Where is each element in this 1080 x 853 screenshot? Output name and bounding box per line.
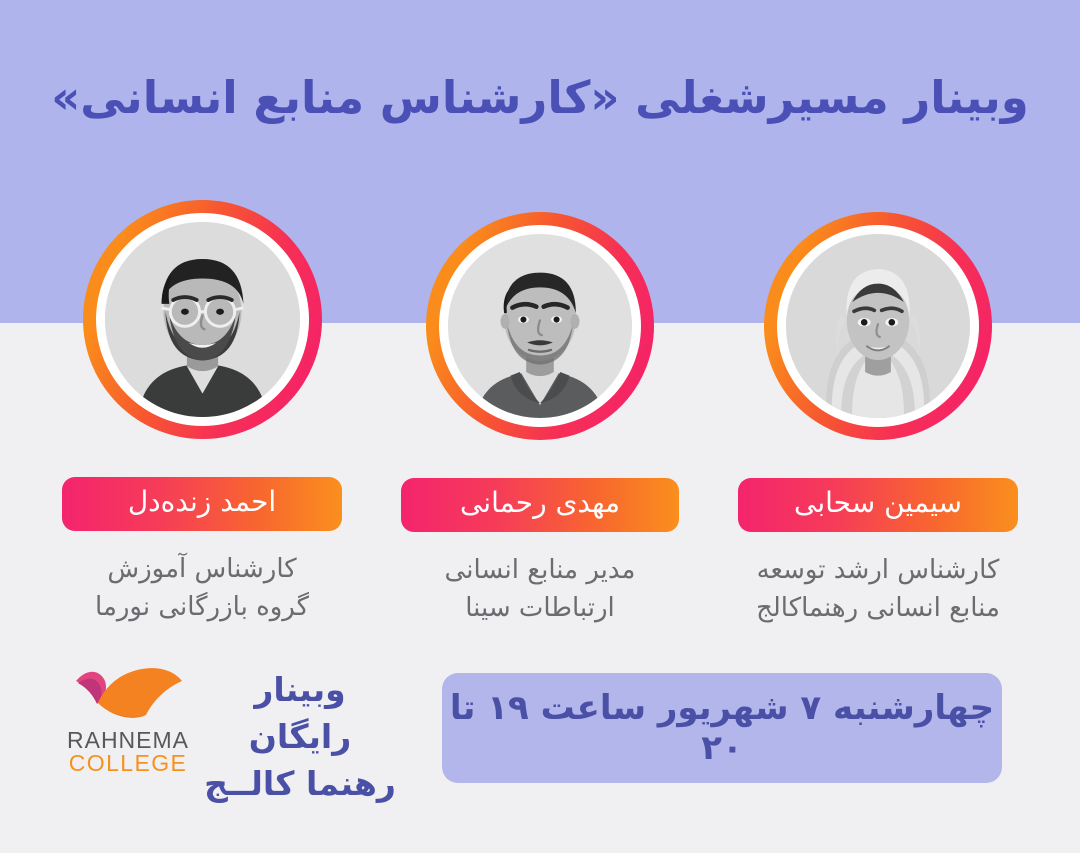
rahnema-bird-logo-icon	[68, 663, 188, 727]
free-webinar-label: وبینار رایگان رهنما کالــج	[200, 667, 400, 808]
speaker-card: احمد زنده‌دل کارشناس آموزش گروه بازرگانی…	[52, 200, 352, 627]
speaker-card: مهدی رحمانی مدیر منابع انسانی ارتباطات س…	[390, 200, 690, 628]
avatar-inner-white-ring	[96, 213, 309, 426]
webinar-poster: وبینار مسیرشغلی «کارشناس منابع انسانی»	[0, 0, 1080, 853]
avatar-inner-white-ring	[439, 225, 641, 427]
avatar-ring	[83, 200, 322, 439]
speaker-role: کارشناس ارشد توسعه منابع انسانی رهنماکال…	[756, 552, 1000, 627]
footer-row: RAHNEMA COLLEGE وبینار رایگان رهنما کالـ…	[0, 655, 1080, 800]
speakers-row: احمد زنده‌دل کارشناس آموزش گروه بازرگانی…	[0, 200, 1080, 628]
speaker-portrait-1	[105, 222, 300, 417]
speaker-role: کارشناس آموزش گروه بازرگانی نورما	[95, 551, 309, 626]
speaker-portrait-3	[786, 234, 970, 418]
brand-name-top: RAHNEMA	[67, 729, 189, 752]
page-title: وبینار مسیرشغلی «کارشناس منابع انسانی»	[0, 68, 1080, 129]
brand-name-bottom: COLLEGE	[67, 752, 189, 775]
avatar-inner-white-ring	[777, 225, 979, 427]
avatar-ring	[426, 212, 654, 440]
speaker-name-badge: سیمین سحابی	[738, 478, 1018, 532]
brand-logo-text: RAHNEMA COLLEGE	[67, 729, 189, 775]
speaker-card: سیمین سحابی کارشناس ارشد توسعه منابع انس…	[728, 200, 1028, 628]
avatar-ring	[764, 212, 992, 440]
speaker-portrait-2	[448, 234, 632, 418]
date-time-badge: چهارشنبه ۷ شهریور ساعت ۱۹ تا ۲۰	[442, 673, 1002, 783]
speaker-name-badge: احمد زنده‌دل	[62, 477, 342, 531]
brand-logo: RAHNEMA COLLEGE	[60, 663, 196, 793]
speaker-role: مدیر منابع انسانی ارتباطات سینا	[445, 552, 636, 627]
speaker-name-badge: مهدی رحمانی	[401, 478, 679, 532]
